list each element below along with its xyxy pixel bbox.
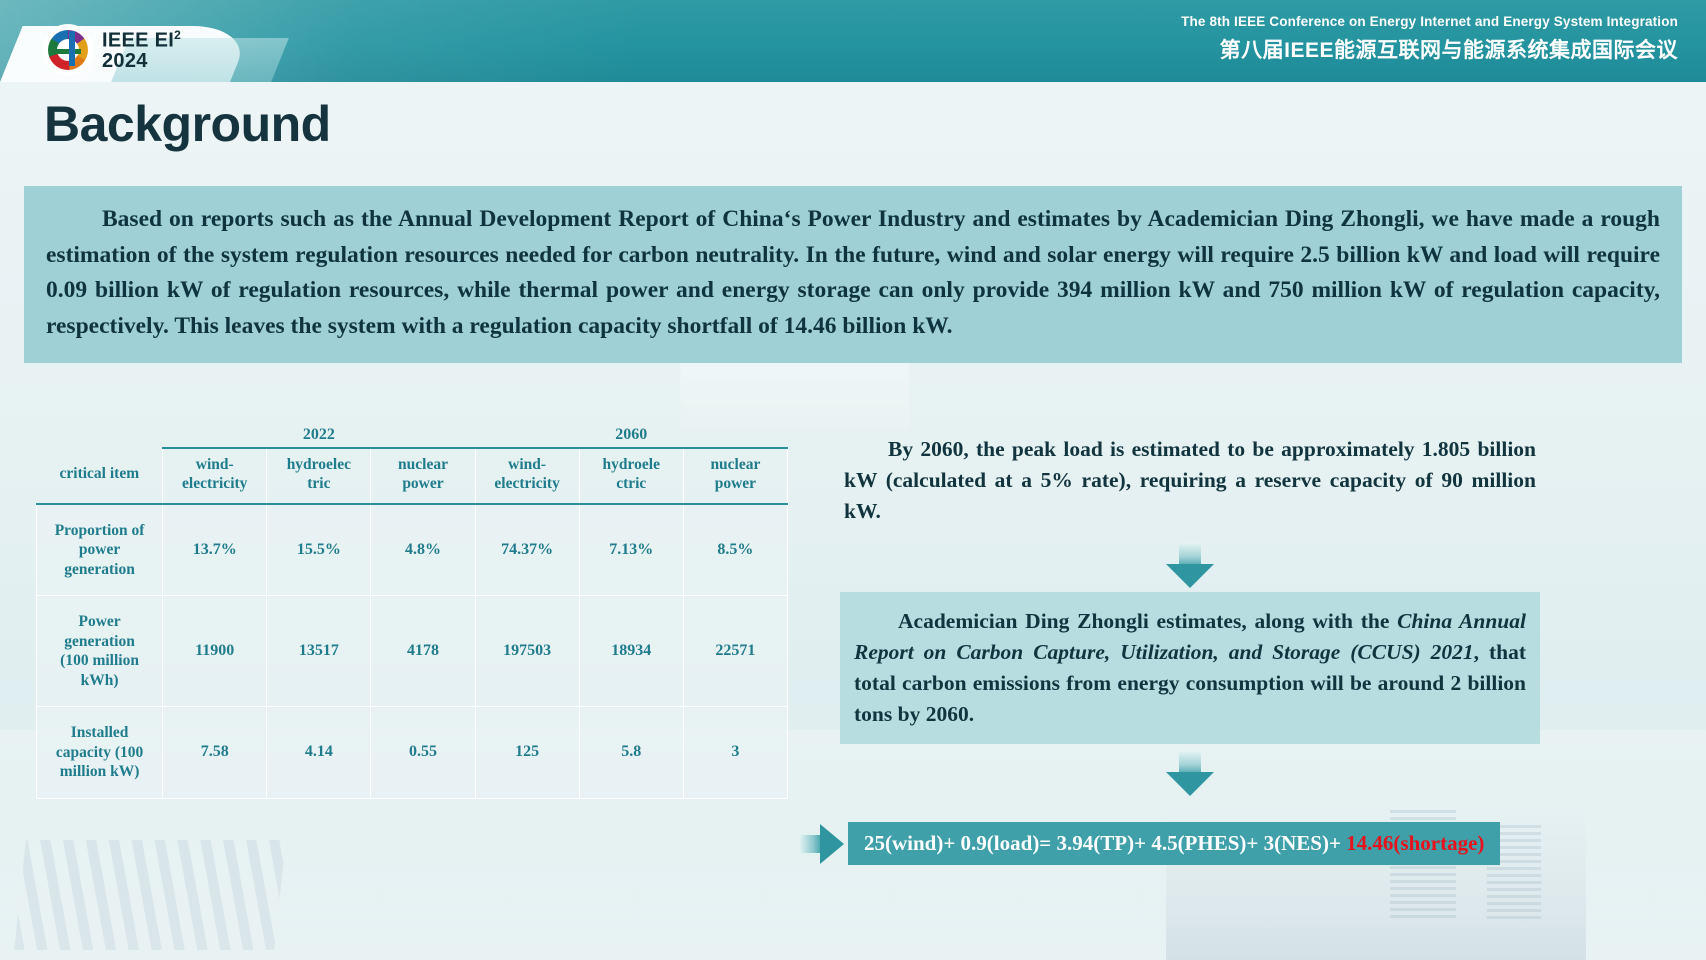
cell-value: 125 — [475, 707, 579, 799]
header-line: power — [402, 475, 443, 492]
cell-value: 5.8 — [579, 707, 683, 799]
conference-title-group: The 8th IEEE Conference on Energy Intern… — [1181, 14, 1678, 64]
row-label-line: Proportion of — [55, 522, 145, 539]
flow-arrow-1-row — [840, 536, 1540, 592]
row-label-line: kWh) — [81, 672, 119, 689]
background-paragraph-text: Based on reports such as the Annual Deve… — [46, 202, 1660, 345]
conference-header-bar: IEEE EI2 2024 The 8th IEEE Conference on… — [0, 0, 1706, 82]
table-row: Proportion of power generation 13.7% 15.… — [37, 504, 788, 596]
header-line: power — [715, 475, 756, 492]
formula-shortage-highlight: 14.46(shortage) — [1346, 831, 1484, 855]
background-paragraph-box: Based on reports such as the Annual Deve… — [24, 186, 1682, 363]
header-line: ctric — [616, 475, 646, 492]
row-label-line: generation — [64, 633, 135, 650]
header-line: electricity — [182, 475, 247, 492]
column-header-wind-2022: wind- electricity — [163, 448, 267, 504]
header-line: nuclear — [710, 456, 760, 473]
slide-canvas: IEEE EI2 2024 The 8th IEEE Conference on… — [0, 0, 1706, 960]
column-header-hydro-2022: hydroelec tric — [267, 448, 371, 504]
header-line: wind- — [196, 456, 234, 473]
table-body: Proportion of power generation 13.7% 15.… — [37, 504, 788, 799]
table-head: 2022 2060 critical item wind- electricit… — [37, 424, 788, 504]
cell-value: 13517 — [267, 596, 371, 707]
row-label-line: million kW) — [60, 763, 140, 780]
row-label-line: power — [79, 541, 120, 558]
cell-value: 22571 — [683, 596, 787, 707]
arrow-right-icon — [800, 824, 846, 864]
column-header-critical-item: critical item — [37, 448, 163, 504]
conference-title-chinese: 第八届IEEE能源互联网与能源系统集成国际会议 — [1181, 34, 1678, 64]
year-group-2022: 2022 — [163, 424, 475, 448]
cell-value: 4178 — [371, 596, 475, 707]
carbon-text-part1: Academician Ding Zhongli estimates, alon… — [898, 609, 1397, 633]
table-row: Power generation (100 million kWh) 11900… — [37, 596, 788, 707]
column-header-nuclear-2022: nuclear power — [371, 448, 475, 504]
cell-value: 7.58 — [163, 707, 267, 799]
year-group-2060: 2060 — [475, 424, 787, 448]
column-header-hydro-2060: hydroele ctric — [579, 448, 683, 504]
row-label-line: generation — [64, 561, 135, 578]
header-line: electricity — [494, 475, 559, 492]
header-line: critical item — [60, 465, 140, 482]
row-label-line: Installed — [71, 724, 129, 741]
cell-value: 3 — [683, 707, 787, 799]
arrow-down-icon — [1164, 542, 1216, 588]
row-label-line: (100 million — [60, 652, 139, 669]
cell-value: 18934 — [579, 596, 683, 707]
header-line: wind- — [508, 456, 546, 473]
ieee-ei-logo: IEEE EI2 2024 — [44, 26, 181, 74]
row-label-installed-capacity: Installed capacity (100 million kW) — [37, 707, 163, 799]
row-label-line: capacity (100 — [56, 744, 143, 761]
header-line: hydroelec — [287, 456, 351, 473]
logo-year: 2024 — [102, 51, 181, 71]
table-row: Installed capacity (100 million kW) 7.58… — [37, 707, 788, 799]
cell-value: 7.13% — [579, 504, 683, 596]
cell-value: 4.14 — [267, 707, 371, 799]
header-line: tric — [307, 475, 330, 492]
energy-comparison-table-wrapper: 2022 2060 critical item wind- electricit… — [36, 424, 788, 799]
cell-value: 13.7% — [163, 504, 267, 596]
column-header-wind-2060: wind- electricity — [475, 448, 579, 504]
cell-value: 11900 — [163, 596, 267, 707]
logo-superscript: 2 — [174, 28, 181, 42]
logo-name-line1: IEEE EI — [102, 30, 174, 52]
peak-load-estimate-text: By 2060, the peak load is estimated to b… — [840, 424, 1540, 536]
energy-comparison-table: 2022 2060 critical item wind- electricit… — [36, 424, 788, 799]
solar-panels-decoration — [14, 840, 286, 950]
row-label-power-generation: Power generation (100 million kWh) — [37, 596, 163, 707]
row-label-proportion: Proportion of power generation — [37, 504, 163, 596]
arrow-down-icon — [1164, 750, 1216, 796]
flow-arrow-2-row — [840, 744, 1540, 800]
page-title: Background — [44, 95, 331, 153]
carbon-emissions-estimate-text: Academician Ding Zhongli estimates, alon… — [840, 592, 1540, 745]
regulation-balance-formula: 25(wind)+ 0.9(load)= 3.94(TP)+ 4.5(PHES)… — [848, 822, 1500, 865]
cell-value: 8.5% — [683, 504, 787, 596]
cell-value: 0.55 — [371, 707, 475, 799]
cell-value: 15.5% — [267, 504, 371, 596]
cell-value: 4.8% — [371, 504, 475, 596]
header-line: hydroele — [603, 456, 660, 473]
cell-value: 74.37% — [475, 504, 579, 596]
header-line: nuclear — [398, 456, 448, 473]
year-group-spacer — [37, 424, 163, 448]
column-header-nuclear-2060: nuclear power — [683, 448, 787, 504]
table-year-group-row: 2022 2060 — [37, 424, 788, 448]
right-analysis-column: By 2060, the peak load is estimated to b… — [840, 424, 1540, 800]
regulation-balance-formula-group: 25(wind)+ 0.9(load)= 3.94(TP)+ 4.5(PHES)… — [800, 822, 1500, 865]
conference-title-english: The 8th IEEE Conference on Energy Intern… — [1181, 14, 1678, 29]
row-label-line: Power — [78, 613, 120, 630]
ieee-globe-icon — [44, 26, 92, 74]
table-header-row: critical item wind- electricity hydroele… — [37, 448, 788, 504]
cell-value: 197503 — [475, 596, 579, 707]
formula-main-text: 25(wind)+ 0.9(load)= 3.94(TP)+ 4.5(PHES)… — [864, 831, 1346, 855]
